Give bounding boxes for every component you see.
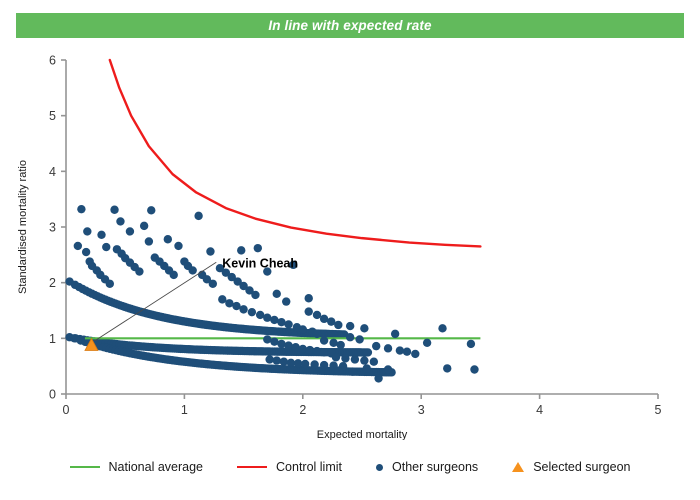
data-point[interactable]	[263, 314, 271, 322]
data-point[interactable]	[282, 297, 290, 305]
legend-item-other-surgeons[interactable]: Other surgeons	[376, 460, 478, 474]
data-point[interactable]	[360, 356, 368, 364]
data-point[interactable]	[391, 330, 399, 338]
data-point[interactable]	[299, 345, 307, 353]
data-point[interactable]	[320, 361, 328, 369]
x-tick-label: 2	[299, 403, 306, 417]
data-point[interactable]	[329, 339, 337, 347]
x-tick-label: 1	[181, 403, 188, 417]
data-point[interactable]	[306, 346, 314, 354]
data-point[interactable]	[384, 365, 392, 373]
data-point[interactable]	[291, 343, 299, 351]
data-point[interactable]	[284, 320, 292, 328]
data-point[interactable]	[336, 341, 344, 349]
data-point[interactable]	[403, 347, 411, 355]
data-point[interactable]	[396, 346, 404, 354]
data-point[interactable]	[334, 366, 342, 374]
data-point[interactable]	[277, 318, 285, 326]
x-tick-label: 3	[418, 403, 425, 417]
data-point[interactable]	[239, 305, 247, 313]
data-point[interactable]	[299, 325, 307, 333]
data-point[interactable]	[305, 294, 313, 302]
legend-label-other-surgeons: Other surgeons	[392, 460, 478, 474]
x-tick-label: 4	[536, 403, 543, 417]
data-point[interactable]	[372, 342, 380, 350]
data-point[interactable]	[320, 348, 328, 356]
chart-legend: National average Control limit Other sur…	[0, 452, 700, 482]
x-tick-label: 0	[63, 403, 70, 417]
data-point[interactable]	[332, 353, 340, 361]
selected-surgeon-triangle-swatch	[512, 462, 524, 472]
data-point[interactable]	[174, 242, 182, 250]
data-point[interactable]	[334, 321, 342, 329]
data-point[interactable]	[164, 235, 172, 243]
data-point[interactable]	[263, 335, 271, 343]
data-point[interactable]	[313, 347, 321, 355]
data-point[interactable]	[97, 231, 105, 239]
data-point[interactable]	[188, 266, 196, 274]
annotation-label: Kevin Cheah	[222, 256, 298, 270]
data-point[interactable]	[170, 271, 178, 279]
data-point[interactable]	[116, 217, 124, 225]
data-point[interactable]	[209, 280, 217, 288]
data-point[interactable]	[438, 324, 446, 332]
y-tick-label: 5	[49, 109, 56, 123]
legend-item-national-average[interactable]: National average	[70, 460, 204, 474]
other-surgeons-dot-swatch	[376, 464, 383, 471]
data-point	[364, 348, 372, 356]
data-point[interactable]	[470, 365, 478, 373]
funnel-plot: 0123456012345Expected mortalityStandardi…	[0, 40, 700, 440]
data-point[interactable]	[106, 280, 114, 288]
legend-label-control-limit: Control limit	[276, 460, 342, 474]
data-point[interactable]	[126, 227, 134, 235]
control-limit-line-swatch	[237, 466, 267, 468]
data-point[interactable]	[251, 291, 259, 299]
data-point[interactable]	[360, 324, 368, 332]
data-point[interactable]	[313, 311, 321, 319]
data-point[interactable]	[273, 290, 281, 298]
data-point[interactable]	[83, 227, 91, 235]
data-point[interactable]	[363, 364, 371, 372]
data-point[interactable]	[237, 246, 245, 254]
data-point[interactable]	[82, 248, 90, 256]
data-point[interactable]	[248, 308, 256, 316]
data-point[interactable]	[140, 222, 148, 230]
data-point[interactable]	[218, 295, 226, 303]
data-point[interactable]	[346, 333, 354, 341]
data-point[interactable]	[313, 330, 321, 338]
data-point[interactable]	[273, 356, 281, 364]
y-tick-label: 4	[49, 165, 56, 179]
data-point[interactable]	[374, 374, 382, 382]
data-point[interactable]	[77, 205, 85, 213]
y-tick-label: 2	[49, 276, 56, 290]
y-tick-label: 3	[49, 221, 56, 235]
data-point[interactable]	[110, 206, 118, 214]
data-point[interactable]	[135, 267, 143, 275]
data-point[interactable]	[74, 242, 82, 250]
y-tick-label: 0	[49, 388, 56, 402]
data-point[interactable]	[310, 360, 318, 368]
data-point[interactable]	[443, 364, 451, 372]
x-tick-label: 5	[655, 403, 662, 417]
y-axis-title: Standardised mortality ratio	[17, 160, 29, 294]
data-point[interactable]	[294, 359, 302, 367]
x-axis-title: Expected mortality	[317, 429, 408, 440]
data-point[interactable]	[423, 339, 431, 347]
data-point[interactable]	[102, 243, 110, 251]
data-point[interactable]	[194, 212, 202, 220]
data-point[interactable]	[280, 358, 288, 366]
data-point[interactable]	[277, 340, 285, 348]
data-point[interactable]	[320, 336, 328, 344]
data-point[interactable]	[384, 344, 392, 352]
data-point[interactable]	[270, 316, 278, 324]
data-point[interactable]	[355, 335, 363, 343]
data-point[interactable]	[145, 237, 153, 245]
legend-label-national-average: National average	[109, 460, 204, 474]
data-point[interactable]	[467, 340, 475, 348]
data-point[interactable]	[305, 307, 313, 315]
data-point[interactable]	[341, 354, 349, 362]
legend-label-selected-surgeon: Selected surgeon	[533, 460, 630, 474]
data-point[interactable]	[206, 247, 214, 255]
data-point[interactable]	[411, 350, 419, 358]
status-banner: In line with expected rate	[16, 13, 684, 38]
data-point[interactable]	[287, 359, 295, 367]
status-banner-text: In line with expected rate	[268, 18, 431, 33]
control-limit-curve	[110, 60, 481, 246]
data-point[interactable]	[301, 360, 309, 368]
data-point[interactable]	[254, 244, 262, 252]
y-tick-label: 1	[49, 332, 56, 346]
data-point[interactable]	[265, 355, 273, 363]
y-tick-label: 6	[49, 54, 56, 68]
data-point[interactable]	[370, 358, 378, 366]
legend-item-control-limit[interactable]: Control limit	[237, 460, 342, 474]
legend-item-selected-surgeon[interactable]: Selected surgeon	[512, 460, 630, 474]
data-point[interactable]	[348, 368, 356, 376]
data-point[interactable]	[351, 355, 359, 363]
data-point[interactable]	[284, 341, 292, 349]
data-point[interactable]	[346, 322, 354, 330]
data-point[interactable]	[270, 337, 278, 345]
funnel-plot-svg: 0123456012345Expected mortalityStandardi…	[0, 40, 700, 440]
national-average-line-swatch	[70, 466, 100, 468]
data-point[interactable]	[147, 206, 155, 214]
